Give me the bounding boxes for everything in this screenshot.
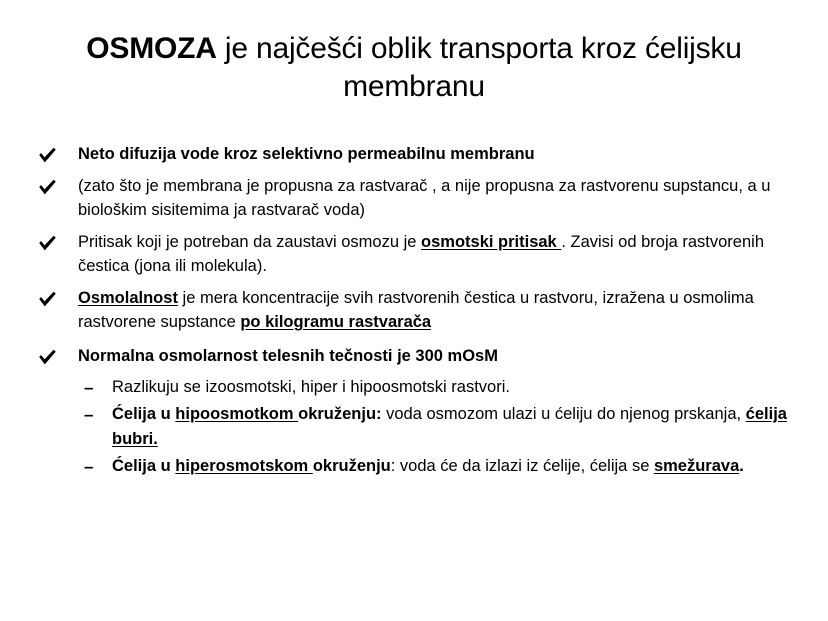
text-run: Neto difuzija vode kroz selektivno perme… [78, 145, 535, 163]
checkmark-bullet-icon [38, 174, 60, 196]
slide-canvas: OSMOZA je najčešći oblik transporta kroz… [0, 0, 828, 621]
page-title-rest: je najčešći oblik transporta kroz ćelijs… [217, 32, 742, 103]
bullet-item-level1: Pritisak koji je potreban da zaustavi os… [34, 230, 794, 279]
text-run: voda osmozom ulazi u ćeliju do njenog pr… [382, 405, 746, 423]
bullet-item-level2: –Razlikuju se izoosmotski, hiper i hipoo… [34, 375, 794, 400]
bullet-text: (zato što je membrana je propusna za ras… [78, 177, 770, 220]
text-run: smežurava [654, 457, 739, 475]
page-title-strong: OSMOZA [86, 32, 216, 65]
bullet-text: Ćelija u hipoosmotkom okruženju: voda os… [112, 405, 787, 448]
page-title: OSMOZA je najčešći oblik transporta kroz… [64, 30, 764, 106]
text-run: hiperosmotskom [175, 457, 313, 475]
text-run: po kilogramu rastvarača [240, 313, 431, 331]
text-run: osmotski pritisak [421, 233, 561, 251]
bullet-list: Neto difuzija vode kroz selektivno perme… [34, 142, 794, 481]
checkmark-bullet-icon [38, 142, 60, 164]
bullet-text: Neto difuzija vode kroz selektivno perme… [78, 145, 535, 163]
text-run: : voda će da izlazi iz ćelije, ćelija se [391, 457, 654, 475]
text-run: okruženju [313, 457, 391, 475]
dash-bullet-icon: – [84, 454, 104, 479]
text-run: . [739, 457, 744, 475]
bullet-item-level1: (zato što je membrana je propusna za ras… [34, 174, 794, 223]
bullet-text: Normalna osmolarnost telesnih tečnosti j… [78, 347, 498, 365]
dash-bullet-icon: – [84, 402, 104, 427]
checkmark-bullet-icon [38, 286, 60, 308]
checkmark-bullet-icon [38, 344, 60, 366]
text-run: (zato što je membrana je propusna za ras… [78, 177, 770, 220]
bullet-item-level2: –Ćelija u hiperosmotskom okruženju: voda… [34, 454, 794, 479]
checkmark-bullet-icon [38, 230, 60, 252]
bullet-text: Razlikuju se izoosmotski, hiper i hipoos… [112, 378, 510, 396]
bullet-text: Osmolalnost je mera koncentracije svih r… [78, 289, 754, 332]
text-run: okruženju: [298, 405, 381, 423]
text-run: Normalna osmolarnost telesnih tečnosti j… [78, 347, 498, 365]
text-run: Ćelija u [112, 457, 175, 475]
bullet-item-level1: Normalna osmolarnost telesnih tečnosti j… [34, 344, 794, 369]
bullet-item-level2: –Ćelija u hipoosmotkom okruženju: voda o… [34, 402, 794, 452]
bullet-text: Pritisak koji je potreban da zaustavi os… [78, 233, 764, 276]
dash-bullet-icon: – [84, 375, 104, 400]
text-run: Osmolalnost [78, 289, 178, 307]
bullet-item-level1: Osmolalnost je mera koncentracije svih r… [34, 286, 794, 335]
text-run: Pritisak koji je potreban da zaustavi os… [78, 233, 421, 251]
text-run: Razlikuju se izoosmotski, hiper i hipoos… [112, 378, 510, 396]
bullet-text: Ćelija u hiperosmotskom okruženju: voda … [112, 457, 744, 475]
bullet-item-level1: Neto difuzija vode kroz selektivno perme… [34, 142, 794, 167]
text-run: Ćelija u [112, 405, 175, 423]
text-run: hipoosmotkom [175, 405, 298, 423]
